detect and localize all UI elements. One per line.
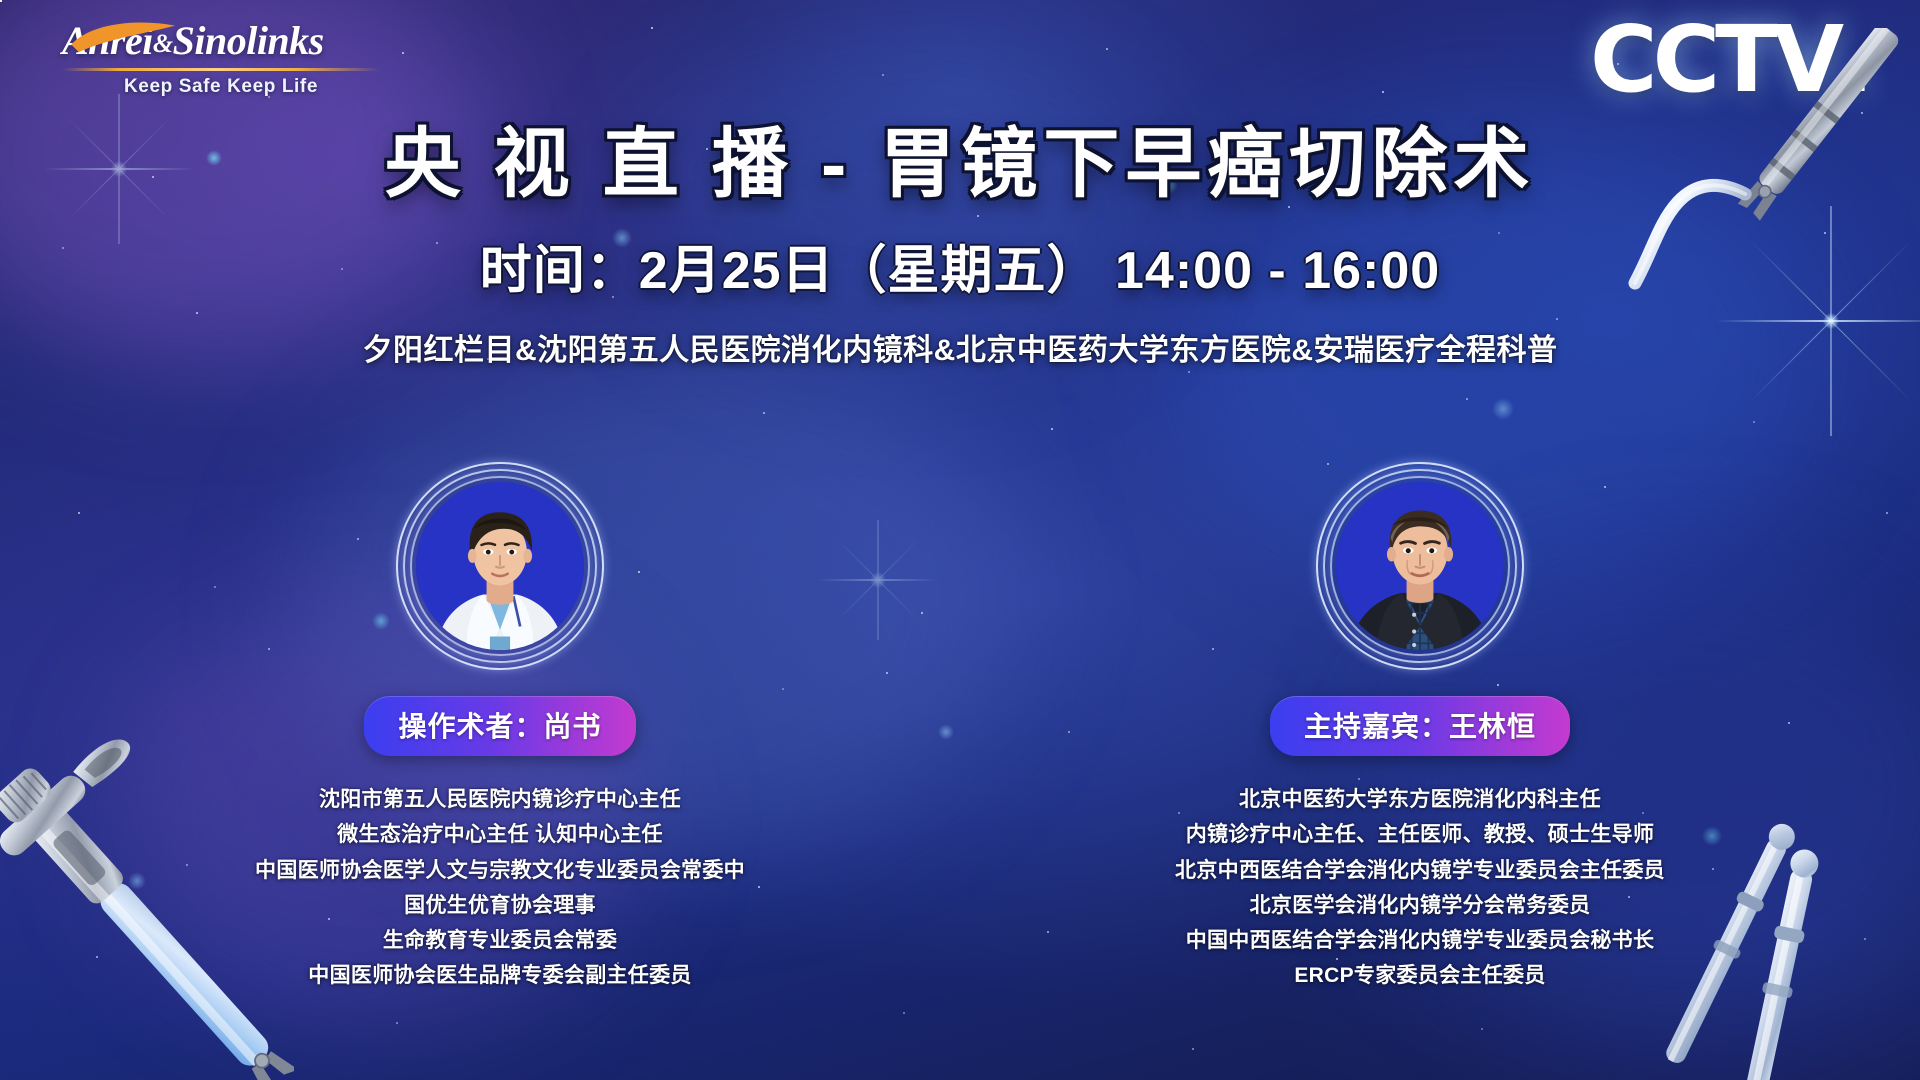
brand-name-first: Anrei — [62, 18, 153, 63]
avatar — [1316, 462, 1524, 670]
brand-logo-wordmark: Anrei&Sinolinks — [62, 18, 382, 64]
speaker-card-operator: 操作术者：尚书 沈阳市第五人民医院内镜诊疗中心主任 微生态治疗中心主任 认知中心… — [220, 462, 780, 994]
credentials-list-host: 北京中医药大学东方医院消化内科主任 内镜诊疗中心主任、主任医师、教授、硕士生导师… — [1175, 782, 1665, 994]
cctv-logo-dot: . — [1839, 6, 1874, 113]
list-item: 沈阳市第五人民医院内镜诊疗中心主任 — [255, 782, 745, 817]
brand-divider-rule — [62, 68, 380, 71]
title-block: 央 视 直 播 - 胃镜下早癌切除术 时间：2月25日（星期五） 14:00 -… — [0, 120, 1920, 369]
brand-name-second: Sinolinks — [173, 18, 324, 63]
speaker-card-host: 主持嘉宾：王林恒 北京中医药大学东方医院消化内科主任 内镜诊疗中心主任、主任医师… — [1140, 462, 1700, 994]
brand-ampersand: & — [153, 29, 173, 58]
brand-logo: Anrei&Sinolinks Keep Safe Keep Life — [62, 18, 382, 98]
brand-tagline: Keep Safe Keep Life — [62, 76, 380, 98]
poster-canvas: Anrei&Sinolinks Keep Safe Keep Life CCTV… — [0, 0, 1920, 1080]
list-item: 北京中西医结合学会消化内镜学专业委员会主任委员 — [1175, 853, 1665, 888]
list-item: 中国医师协会医学人文与宗教文化专业委员会常委中 — [255, 853, 745, 888]
page-title: 央 视 直 播 - 胃镜下早癌切除术 — [0, 120, 1920, 210]
cctv-logo-text: CCTV — [1590, 6, 1839, 113]
list-item: 中国中西医结合学会消化内镜学专业委员会秘书长 — [1175, 923, 1665, 958]
speakers-section: 操作术者：尚书 沈阳市第五人民医院内镜诊疗中心主任 微生态治疗中心主任 认知中心… — [0, 462, 1920, 994]
cctv-logo: CCTV. — [1590, 14, 1874, 106]
list-item: 北京医学会消化内镜学分会常务委员 — [1175, 888, 1665, 923]
list-item: ERCP专家委员会主任委员 — [1175, 958, 1665, 993]
speaker-role-badge-host: 主持嘉宾：王林恒 — [1270, 696, 1570, 756]
list-item: 生命教育专业委员会常委 — [255, 923, 745, 958]
event-subtitle: 夕阳红栏目&沈阳第五人民医院消化内镜科&北京中医药大学东方医院&安瑞医疗全程科普 — [0, 325, 1920, 369]
event-time: 时间：2月25日（星期五） 14:00 - 16:00 — [0, 228, 1920, 303]
speaker-role-badge-operator: 操作术者：尚书 — [364, 696, 635, 756]
portrait-image-operator — [416, 482, 584, 650]
list-item: 北京中医药大学东方医院消化内科主任 — [1175, 782, 1665, 817]
list-item: 内镜诊疗中心主任、主任医师、教授、硕士生导师 — [1175, 817, 1665, 852]
portrait-image-host — [1336, 482, 1504, 650]
credentials-list-operator: 沈阳市第五人民医院内镜诊疗中心主任 微生态治疗中心主任 认知中心主任 中国医师协… — [255, 782, 745, 994]
list-item: 微生态治疗中心主任 认知中心主任 — [255, 817, 745, 852]
list-item: 中国医师协会医生品牌专委会副主任委员 — [255, 958, 745, 993]
avatar — [396, 462, 604, 670]
list-item: 国优生优育协会理事 — [255, 888, 745, 923]
